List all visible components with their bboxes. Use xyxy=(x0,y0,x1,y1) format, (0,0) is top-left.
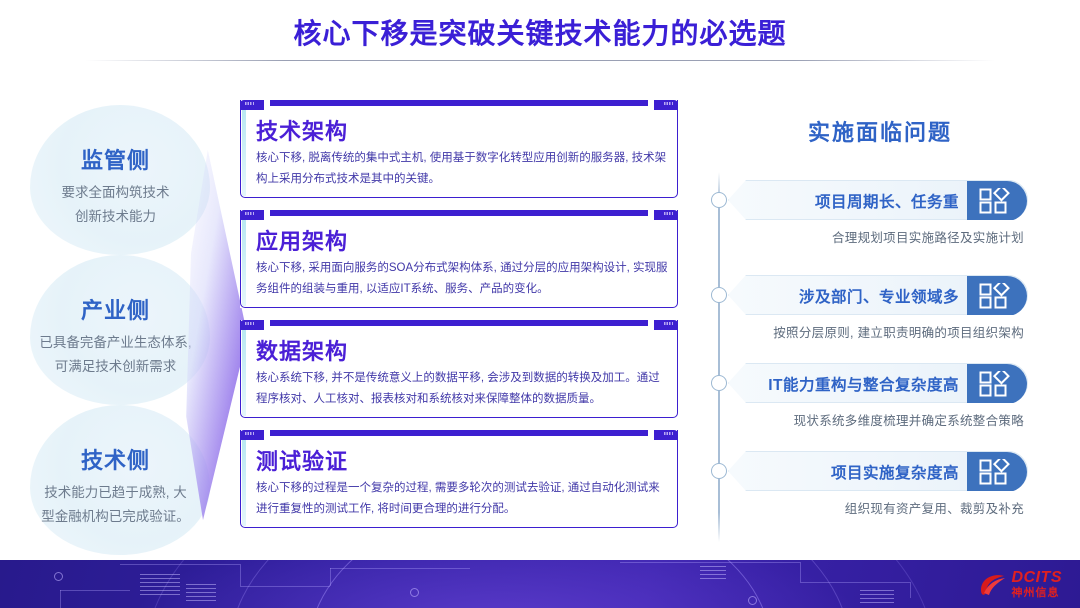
card-dash-left-icon xyxy=(245,102,254,105)
architecture-card: 应用架构 核心下移, 采用面向服务的SOA分布式架构体系, 通过分层的应用架构设… xyxy=(240,210,678,308)
timeline-axis xyxy=(718,172,720,542)
title-divider xyxy=(85,60,995,61)
right-column: 实施面临问题 项目周期长、任务重 合理规划项目实施路径及实施计划 涉及部门、专业… xyxy=(700,100,1080,550)
chip-grid-decoration xyxy=(700,566,726,580)
squares-diamond-icon xyxy=(967,276,1027,316)
squares-diamond-icon xyxy=(967,181,1027,221)
circuit-trace xyxy=(60,590,61,608)
swoosh-icon xyxy=(978,570,1008,598)
left-item-technology: 技术侧 技术能力已趋于成熟, 大 型金融机构已完成验证。 xyxy=(8,443,223,528)
page-title: 核心下移是突破关键技术能力的必选题 xyxy=(0,12,1080,52)
card-top-bar xyxy=(240,210,678,220)
circuit-trace xyxy=(330,568,331,586)
issue-label: 涉及部门、专业领域多 xyxy=(751,276,959,316)
card-dash-left-icon xyxy=(245,432,254,435)
center-column: 技术架构 核心下移, 脱离传统的集中式主机, 使用基于数字化转型应用创新的服务器… xyxy=(240,100,690,540)
circuit-node xyxy=(54,572,63,581)
circuit-trace xyxy=(120,564,240,565)
issue-item[interactable]: 项目周期长、任务重 合理规划项目实施路径及实施计划 xyxy=(728,180,1038,246)
card-dash-right-icon xyxy=(664,102,673,105)
banner-ring-decoration xyxy=(144,560,936,608)
left-item-heading: 技术侧 xyxy=(8,443,223,475)
circuit-trace xyxy=(240,564,241,586)
issue-label: 项目周期长、任务重 xyxy=(751,181,959,221)
issue-description: 按照分层原则, 建立职责明确的项目组织架构 xyxy=(728,322,1030,341)
timeline-dot xyxy=(711,375,727,391)
right-column-title: 实施面临问题 xyxy=(700,115,1060,147)
left-item-regulator: 监管侧 要求全面构筑技术 创新技术能力 xyxy=(8,143,223,228)
card-top-bar xyxy=(240,430,678,440)
company-logo: DCITS 神州信息 xyxy=(978,566,1063,602)
issue-item[interactable]: 项目实施复杂度高 组织现有资产复用、裁剪及补充 xyxy=(728,451,1038,517)
circuit-node xyxy=(410,588,419,597)
issue-pill[interactable]: 项目周期长、任务重 xyxy=(728,180,1028,220)
issue-label: 项目实施复杂度高 xyxy=(751,452,959,492)
footer-banner: DCITS 神州信息 xyxy=(0,560,1080,608)
card-top-bar xyxy=(240,100,678,110)
left-item-desc-line: 创新技术能力 xyxy=(8,205,223,229)
card-inner-glow xyxy=(242,220,246,306)
issue-pill[interactable]: IT能力重构与整合复杂度高 xyxy=(728,363,1028,403)
chip-grid-decoration xyxy=(186,584,216,604)
issue-item[interactable]: 涉及部门、专业领域多 按照分层原则, 建立职责明确的项目组织架构 xyxy=(728,275,1038,341)
card-dash-right-icon xyxy=(664,322,673,325)
card-body: 核心系统下移, 并不是传统意义上的数据平移, 会涉及到数据的转换及加工。通过程序… xyxy=(256,368,668,411)
issue-item[interactable]: IT能力重构与整合复杂度高 现状系统多维度梳理并确定系统整合策略 xyxy=(728,363,1038,429)
issue-pill[interactable]: 涉及部门、专业领域多 xyxy=(728,275,1028,315)
circuit-trace xyxy=(800,582,910,583)
circuit-trace xyxy=(60,590,130,591)
card-title: 数据架构 xyxy=(256,334,348,366)
issue-description: 组织现有资产复用、裁剪及补充 xyxy=(728,498,1030,517)
issue-description: 现状系统多维度梳理并确定系统整合策略 xyxy=(728,410,1030,429)
timeline-dot xyxy=(711,463,727,479)
squares-diamond-icon xyxy=(967,452,1027,492)
logo-sub-text: 神州信息 xyxy=(1012,588,1063,599)
card-inner-glow xyxy=(242,330,246,416)
circuit-trace xyxy=(800,562,801,582)
card-title: 应用架构 xyxy=(256,224,348,256)
circuit-trace xyxy=(910,582,911,598)
architecture-card: 测试验证 核心下移的过程是一个复杂的过程, 需要多轮次的测试去验证, 通过自动化… xyxy=(240,430,678,528)
card-top-bar xyxy=(240,320,678,330)
left-item-desc-line: 型金融机构已完成验证。 xyxy=(8,505,223,529)
logo-text: DCITS 神州信息 xyxy=(1012,570,1063,599)
card-dash-left-icon xyxy=(245,212,254,215)
left-item-heading: 监管侧 xyxy=(8,143,223,175)
timeline-dot xyxy=(711,287,727,303)
card-dash-right-icon xyxy=(664,212,673,215)
card-inner-glow xyxy=(242,110,246,196)
timeline-dot xyxy=(711,192,727,208)
circuit-trace xyxy=(330,568,470,569)
card-dash-left-icon xyxy=(245,322,254,325)
architecture-card: 技术架构 核心下移, 脱离传统的集中式主机, 使用基于数字化转型应用创新的服务器… xyxy=(240,100,678,198)
architecture-card: 数据架构 核心系统下移, 并不是传统意义上的数据平移, 会涉及到数据的转换及加工… xyxy=(240,320,678,418)
issue-pill[interactable]: 项目实施复杂度高 xyxy=(728,451,1028,491)
circuit-node xyxy=(748,596,757,605)
chip-grid-decoration xyxy=(860,590,894,606)
issue-label: IT能力重构与整合复杂度高 xyxy=(751,364,959,404)
squares-diamond-icon xyxy=(967,364,1027,404)
card-title: 技术架构 xyxy=(256,114,348,146)
issue-description: 合理规划项目实施路径及实施计划 xyxy=(728,227,1030,246)
chip-grid-decoration xyxy=(140,574,180,598)
card-inner-glow xyxy=(242,440,246,526)
card-body: 核心下移, 采用面向服务的SOA分布式架构体系, 通过分层的应用架构设计, 实现… xyxy=(256,258,668,301)
card-body: 核心下移, 脱离传统的集中式主机, 使用基于数字化转型应用创新的服务器, 技术架… xyxy=(256,148,668,191)
card-title: 测试验证 xyxy=(256,444,348,476)
circuit-trace xyxy=(620,562,800,563)
logo-main-text: DCITS xyxy=(1012,570,1063,586)
circuit-trace xyxy=(240,586,330,587)
card-dash-right-icon xyxy=(664,432,673,435)
card-body: 核心下移的过程是一个复杂的过程, 需要多轮次的测试去验证, 通过自动化测试来进行… xyxy=(256,478,668,521)
left-item-desc-line: 要求全面构筑技术 xyxy=(8,181,223,205)
left-item-desc-line: 技术能力已趋于成熟, 大 xyxy=(8,481,223,505)
